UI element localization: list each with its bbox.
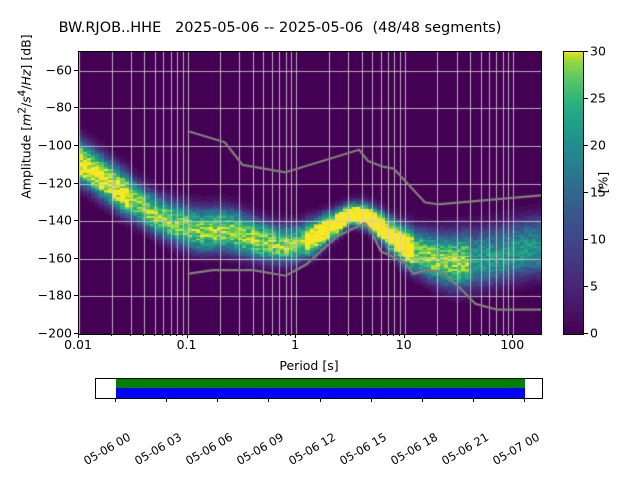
timeline-tick-mark: [422, 398, 423, 402]
timeline-tick-mark: [524, 398, 525, 402]
x-tick-mark: [78, 334, 79, 338]
x-tick-mark-minor: [488, 334, 489, 336]
y-tick-mark: [74, 70, 78, 71]
timeline-tick-mark: [320, 398, 321, 402]
x-tick-mark: [512, 334, 513, 338]
y-tick-mark: [74, 220, 78, 221]
y-tick-mark: [74, 258, 78, 259]
colorbar-tick-mark: [584, 192, 588, 193]
x-tick-mark-minor: [371, 334, 372, 336]
y-tick-label: −60: [0, 62, 72, 77]
y-tick-mark: [74, 295, 78, 296]
x-tick-mark-minor: [290, 334, 291, 336]
x-tick-mark-minor: [143, 334, 144, 336]
y-tick-label: −100: [0, 138, 72, 153]
x-tick-label: 100: [472, 337, 552, 352]
y-tick-label: −120: [0, 175, 72, 190]
x-tick-mark: [295, 334, 296, 338]
x-tick-mark-minor: [393, 334, 394, 336]
colorbar-tick-label: 0: [590, 326, 598, 341]
x-tick-mark: [187, 334, 188, 338]
colorbar-tick-label: 25: [590, 91, 606, 106]
colorbar-tick-label: 15: [590, 185, 606, 200]
x-tick-mark-minor: [436, 334, 437, 336]
x-tick-mark-minor: [278, 334, 279, 336]
x-tick-mark-minor: [361, 334, 362, 336]
x-tick-mark-minor: [469, 334, 470, 336]
timeline-bar-psd-segments: [116, 388, 525, 398]
x-tick-mark-minor: [162, 334, 163, 336]
x-tick-mark-minor: [170, 334, 171, 336]
x-tick-label: 0.1: [147, 337, 227, 352]
timeline-tick-mark: [166, 398, 167, 402]
x-tick-mark-minor: [262, 334, 263, 336]
timeline-tick-mark: [371, 398, 372, 402]
x-tick-mark-minor: [271, 334, 272, 336]
colorbar-tick-mark: [584, 51, 588, 52]
y-tick-label: −140: [0, 213, 72, 228]
x-tick-mark-minor: [238, 334, 239, 336]
timeline-tick-mark: [217, 398, 218, 402]
timeline-tick-label-text: 05-06 00: [81, 430, 133, 468]
x-tick-mark-minor: [252, 334, 253, 336]
timeline-plot-area: [95, 378, 543, 399]
x-tick-mark-minor: [285, 334, 286, 336]
y-tick-label: −180: [0, 288, 72, 303]
x-tick-mark-minor: [507, 334, 508, 336]
ppsd-figure: BW.RJOB..HHE 2025-05-06 -- 2025-05-06 (4…: [0, 0, 640, 480]
x-tick-mark-minor: [154, 334, 155, 336]
timeline-tick-label: 05-07 00: [535, 404, 587, 442]
y-tick-mark: [74, 107, 78, 108]
colorbar-tick-mark: [584, 286, 588, 287]
y-tick-mark: [74, 183, 78, 184]
colorbar-tick-mark: [584, 333, 588, 334]
x-tick-mark-minor: [456, 334, 457, 336]
colorbar-tick-mark: [584, 98, 588, 99]
y-tick-label: −80: [0, 100, 72, 115]
timeline-tick-mark: [115, 398, 116, 402]
colorbar: [563, 51, 584, 335]
x-tick-mark-minor: [347, 334, 348, 336]
colorbar-tick-mark: [584, 239, 588, 240]
x-tick-mark-minor: [502, 334, 503, 336]
x-tick-mark-minor: [130, 334, 131, 336]
x-tick-mark-minor: [387, 334, 388, 336]
colorbar-tick-mark: [584, 145, 588, 146]
colorbar-tick-label: 30: [590, 44, 606, 59]
x-tick-mark-minor: [495, 334, 496, 336]
timeline-bar-data-coverage: [116, 379, 525, 388]
x-tick-mark-minor: [182, 334, 183, 336]
x-axis-label: Period [s]: [78, 358, 540, 373]
page-title: BW.RJOB..HHE 2025-05-06 -- 2025-05-06 (4…: [0, 20, 560, 36]
colorbar-tick-label: 20: [590, 138, 606, 153]
colorbar-tick-label: 5: [590, 279, 598, 294]
x-tick-mark-minor: [176, 334, 177, 336]
x-tick-mark-minor: [480, 334, 481, 336]
x-tick-label: 1: [255, 337, 335, 352]
x-tick-label: 0.01: [38, 337, 118, 352]
x-tick-mark-minor: [111, 334, 112, 336]
x-tick-label: 10: [364, 337, 444, 352]
x-tick-mark-minor: [399, 334, 400, 336]
y-tick-label: −160: [0, 250, 72, 265]
colorbar-tick-label: 10: [590, 232, 606, 247]
y-axis-ticks: [0, 0, 78, 334]
x-tick-mark-minor: [328, 334, 329, 336]
x-tick-mark-minor: [219, 334, 220, 336]
ppsd-density-canvas: [79, 52, 541, 334]
timeline-tick-mark: [473, 398, 474, 402]
y-tick-mark: [74, 145, 78, 146]
x-tick-mark-minor: [380, 334, 381, 336]
x-tick-mark: [404, 334, 405, 338]
ppsd-plot-area: [78, 51, 542, 335]
timeline-tick-mark: [268, 398, 269, 402]
